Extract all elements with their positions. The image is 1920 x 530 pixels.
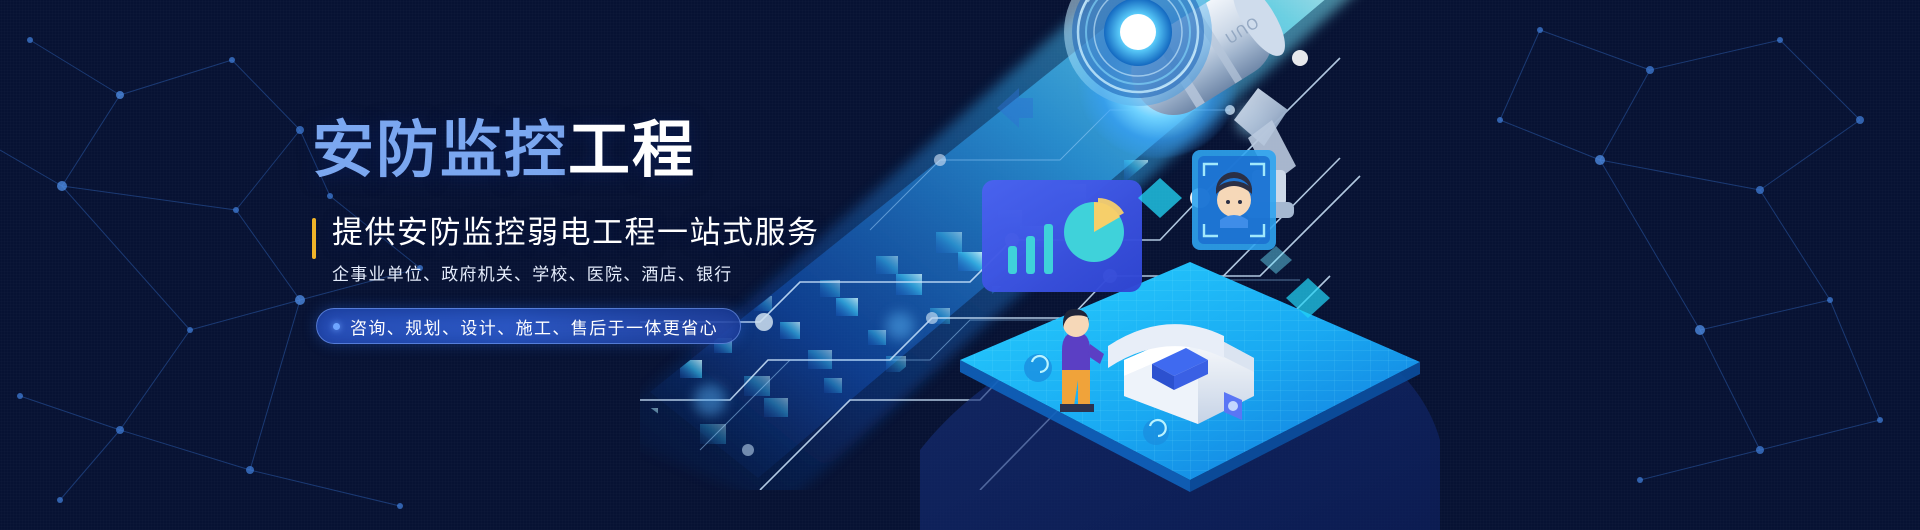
face-recognition-panel-icon (1192, 150, 1276, 250)
subtitle-secondary: 企事业单位、政府机关、学校、医院、酒店、银行 (332, 264, 1012, 286)
subtitle: 提供安防监控弱电工程一站式服务 (332, 214, 1012, 253)
title-blue-part: 安防监控 (312, 116, 568, 185)
title-white-part: 工程 (568, 116, 696, 185)
subtitle-group: 提供安防监控弱电工程一站式服务 企事业单位、政府机关、学校、医院、酒店、银行 (312, 214, 1012, 287)
page-title: 安防监控工程 (312, 118, 1012, 184)
dot-icon (333, 323, 340, 330)
security-banner: ꓴꓵꓳ (0, 0, 1920, 530)
headline-block: 安防监控工程 提供安防监控弱电工程一站式服务 企事业单位、政府机关、学校、医院、… (312, 118, 1012, 287)
service-pill-label: 咨询、规划、设计、施工、售后于一体更省心 (350, 314, 718, 339)
service-pill[interactable]: 咨询、规划、设计、施工、售后于一体更省心 (316, 308, 741, 344)
